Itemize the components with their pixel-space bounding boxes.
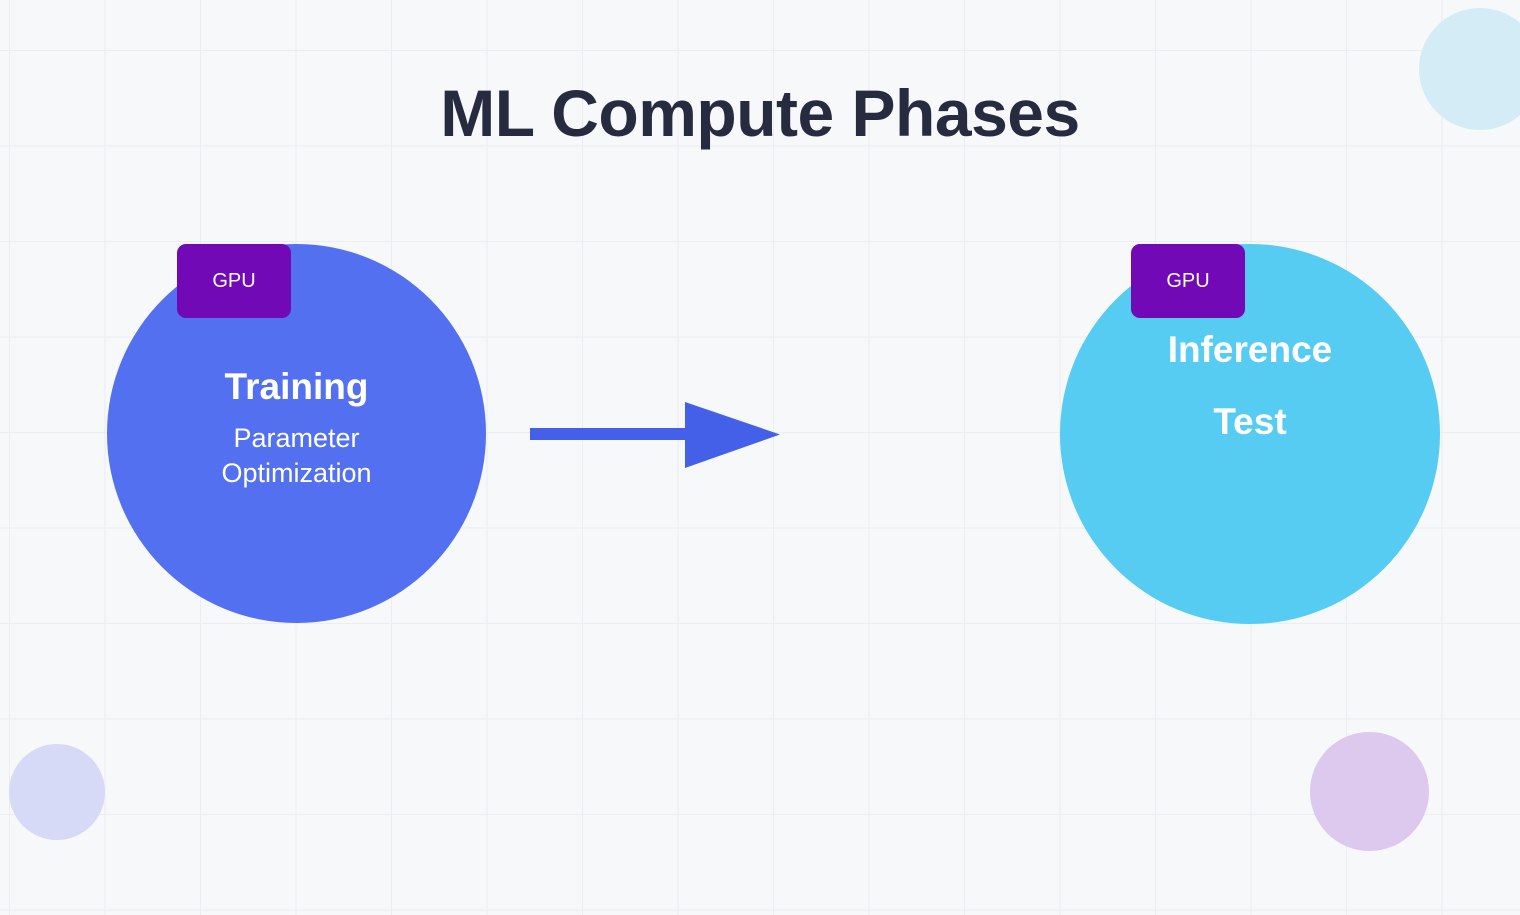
node-training-label: Training — [182, 365, 412, 409]
arrow-training-to-inference — [530, 396, 786, 474]
node-training[interactable]: Training Parameter Optimization — [107, 244, 486, 623]
gpu-badge-training[interactable]: GPU — [177, 244, 291, 318]
node-inference[interactable]: Inference Test — [1060, 244, 1440, 624]
node-inference-text: Inference Test — [1168, 314, 1333, 458]
decorative-circle-bottom-right — [1310, 732, 1429, 851]
node-training-sublabel: Parameter Optimization — [182, 421, 412, 492]
decorative-circle-bottom-left — [9, 744, 105, 840]
node-inference-label-line1: Inference — [1168, 314, 1333, 386]
arrow-head-icon — [685, 402, 780, 468]
gpu-badge-inference[interactable]: GPU — [1131, 244, 1245, 318]
diagram-canvas: ML Compute Phases Training Parameter Opt… — [0, 0, 1520, 915]
node-training-text: Training Parameter Optimization — [182, 365, 412, 492]
node-inference-label-line2: Test — [1168, 386, 1333, 458]
arrow-shaft — [530, 428, 692, 440]
diagram-title: ML Compute Phases — [0, 78, 1520, 149]
